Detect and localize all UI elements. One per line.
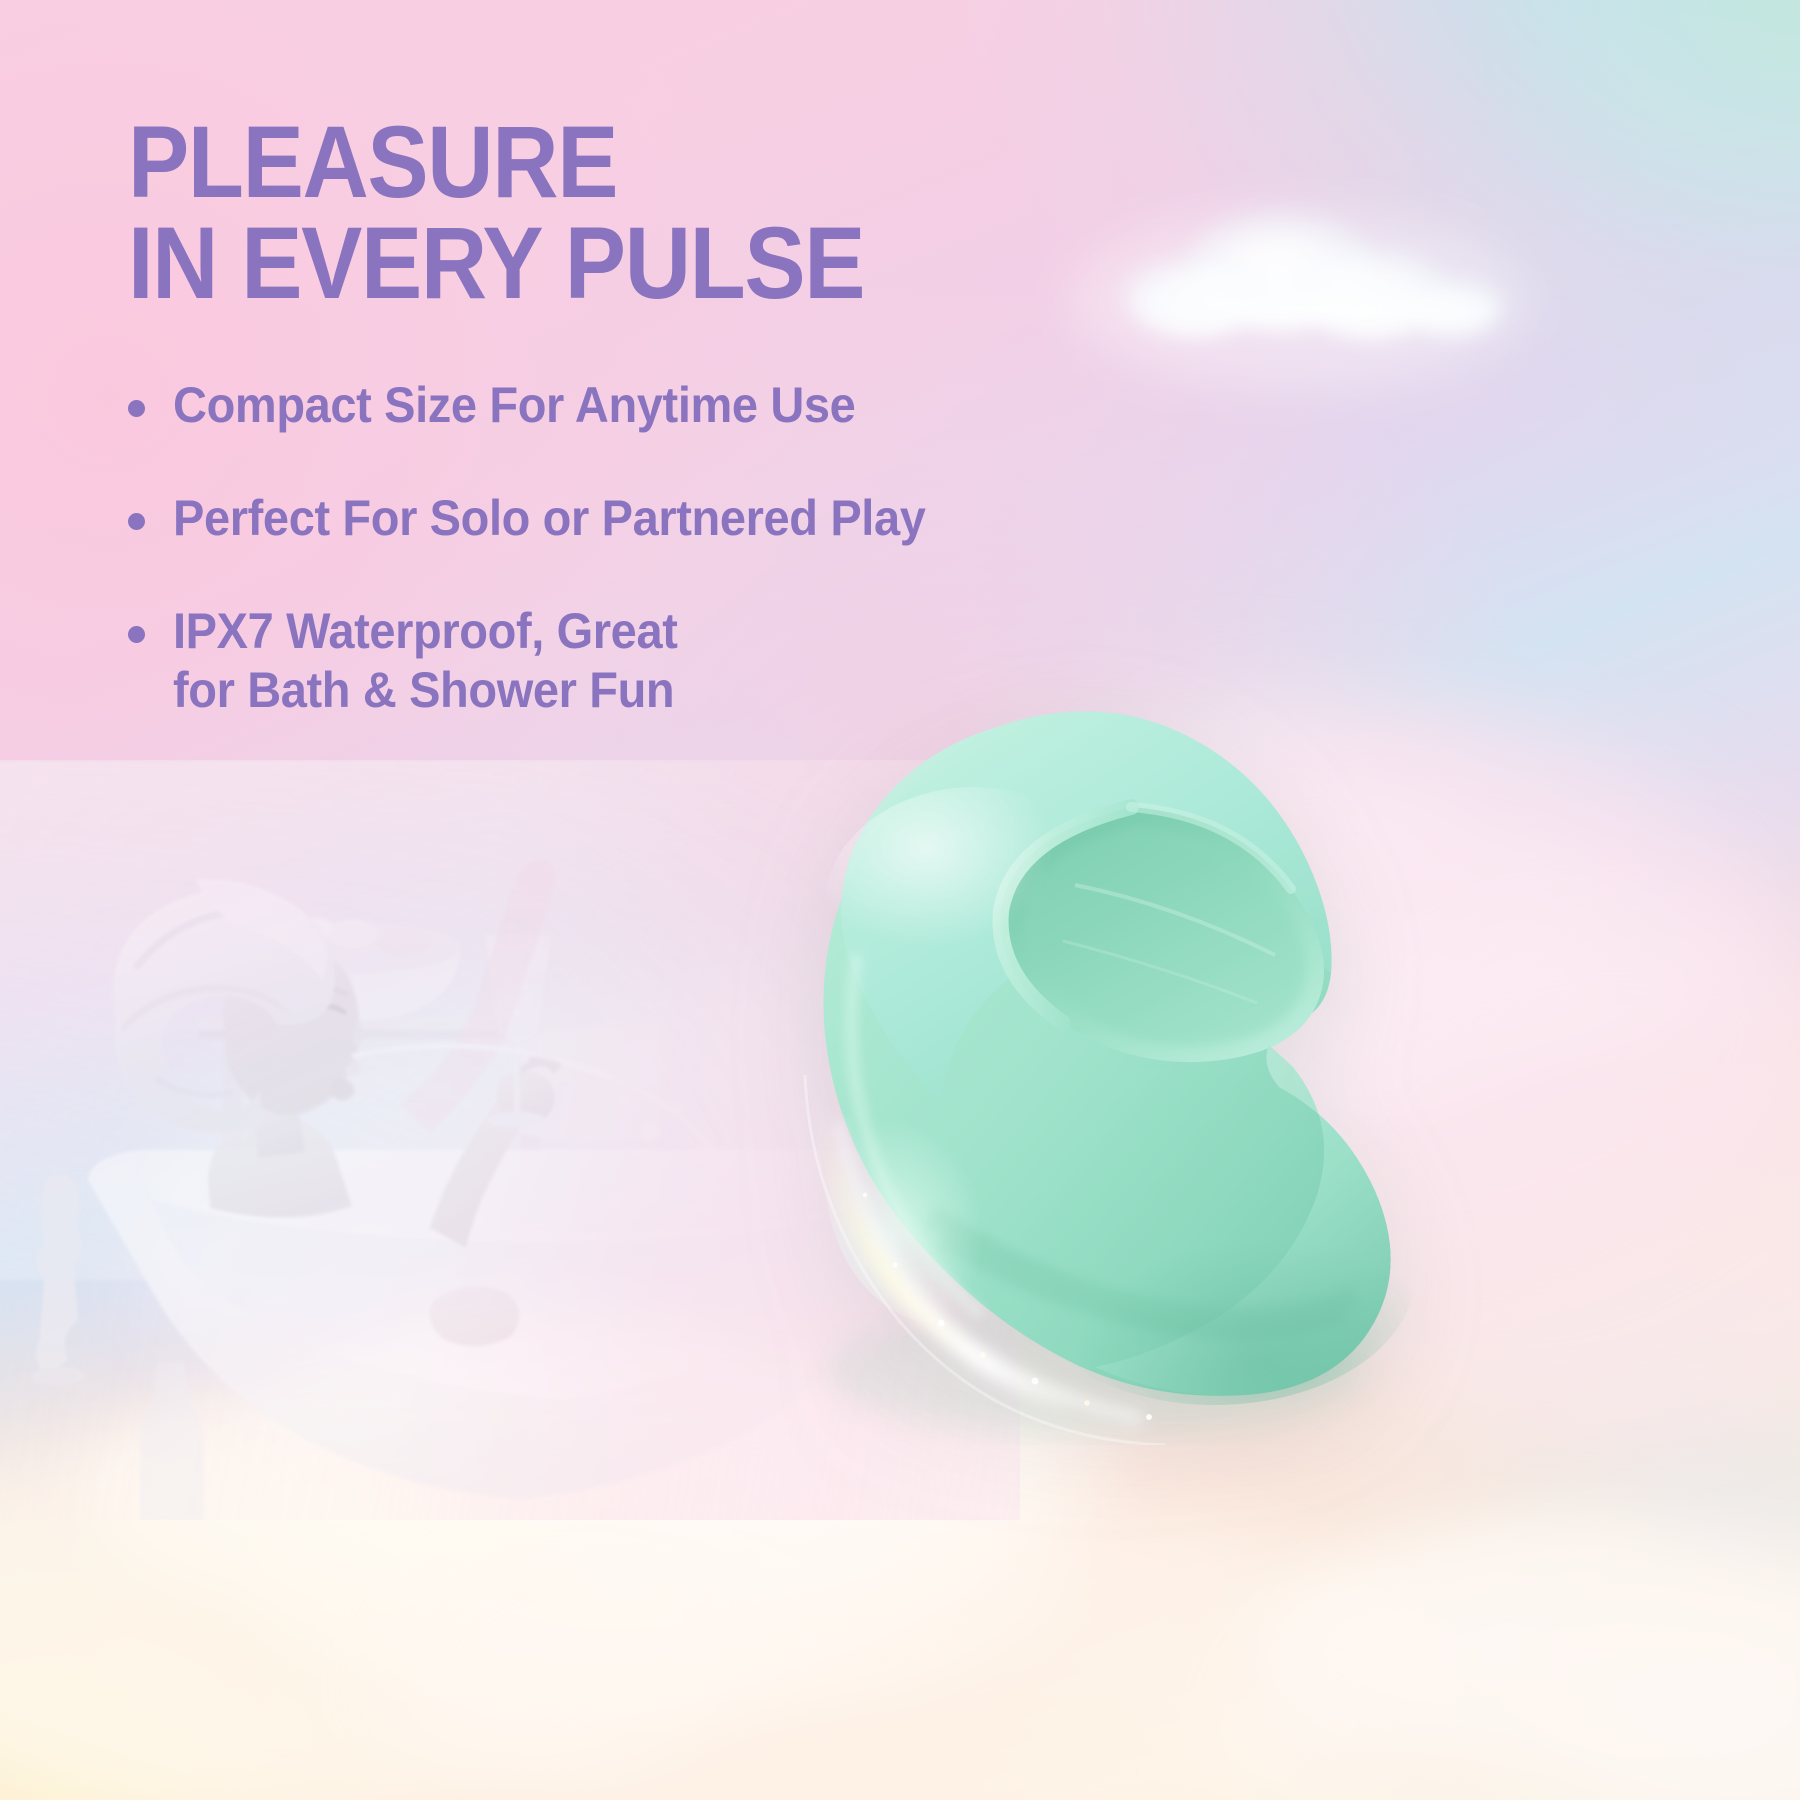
- feature-list: Compact Size For Anytime Use Perfect For…: [128, 376, 1148, 720]
- feature-item-compact-size: Compact Size For Anytime Use: [128, 376, 1148, 435]
- page-title: PLEASURE IN EVERY PULSE: [128, 112, 1046, 314]
- bullet-dot-icon: [128, 400, 145, 417]
- champagne-bottle: [140, 1348, 204, 1520]
- feature-label: Compact Size For Anytime Use: [173, 376, 855, 435]
- feature-item-waterproof: IPX7 Waterproof, Great for Bath & Shower…: [128, 602, 1148, 720]
- product-marketing-poster: PLEASURE IN EVERY PULSE Compact Size For…: [0, 0, 1800, 1800]
- product-highlight-top: [825, 787, 1125, 1023]
- feature-item-solo-or-partnered: Perfect For Solo or Partnered Play: [128, 489, 1148, 548]
- copy-block: PLEASURE IN EVERY PULSE Compact Size For…: [128, 112, 1148, 720]
- product-shade-bottom: [1015, 1145, 1415, 1405]
- bullet-dot-icon: [128, 626, 145, 643]
- bullet-dot-icon: [128, 513, 145, 530]
- product-image-mint-massager: [745, 655, 1465, 1445]
- feature-label: IPX7 Waterproof, Great for Bath & Shower…: [173, 602, 677, 720]
- feature-label: Perfect For Solo or Partnered Play: [173, 489, 926, 548]
- product-art: [745, 655, 1465, 1445]
